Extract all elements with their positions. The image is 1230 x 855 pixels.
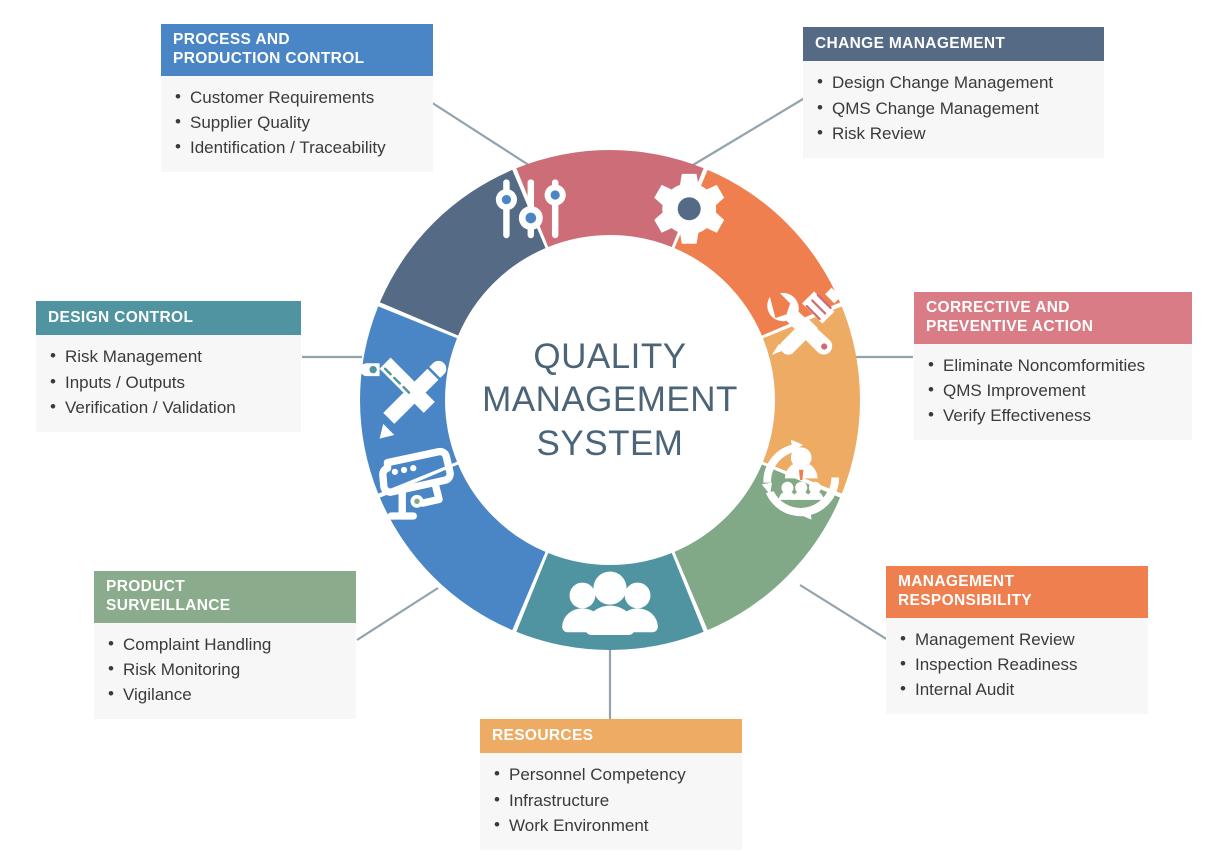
- qms-wheel: [355, 145, 865, 655]
- card-title-line-2: PRODUCTION CONTROL: [173, 49, 421, 68]
- card-header-product-surveillance: PRODUCT SURVEILLANCE: [94, 571, 356, 623]
- card-title-line-1: DESIGN CONTROL: [48, 308, 289, 327]
- card-header-change-management: CHANGE MANAGEMENT: [803, 27, 1104, 61]
- card-list-management-responsibility: Management Review Inspection Readiness I…: [886, 618, 1148, 714]
- list-item: Risk Review: [817, 121, 1092, 146]
- list-item: Management Review: [900, 627, 1136, 652]
- list-item: QMS Change Management: [817, 96, 1092, 121]
- list-item: QMS Improvement: [928, 378, 1180, 403]
- card-list-corrective-and-preventive-action: Eliminate Noncomformities QMS Improvemen…: [914, 344, 1192, 440]
- card-design-control: DESIGN CONTROL Risk Management Inputs / …: [36, 301, 301, 432]
- card-corrective-and-preventive-action: CORRECTIVE AND PREVENTIVE ACTION Elimina…: [914, 292, 1192, 440]
- list-item: Customer Requirements: [175, 85, 421, 110]
- list-item: Supplier Quality: [175, 110, 421, 135]
- card-header-process-and-production-control: PROCESS AND PRODUCTION CONTROL: [161, 24, 433, 76]
- list-item: Complaint Handling: [108, 632, 344, 657]
- qms-diagram: QUALITY MANAGEMENT SYSTEM PROCESS AND PR…: [0, 0, 1230, 855]
- card-title-line-1: MANAGEMENT: [898, 572, 1136, 591]
- list-item: Inputs / Outputs: [50, 370, 289, 395]
- card-title-line-2: PREVENTIVE ACTION: [926, 317, 1180, 336]
- card-list-change-management: Design Change Management QMS Change Mana…: [803, 61, 1104, 157]
- list-item: Risk Management: [50, 344, 289, 369]
- sliders-icon: [496, 179, 566, 238]
- list-item: Infrastructure: [494, 788, 730, 813]
- card-title-line-1: PRODUCT: [106, 577, 344, 596]
- list-item: Internal Audit: [900, 677, 1136, 702]
- card-change-management: CHANGE MANAGEMENT Design Change Manageme…: [803, 27, 1104, 158]
- card-header-resources: RESOURCES: [480, 719, 742, 753]
- segment-change-management: [380, 170, 546, 336]
- card-title-line-1: CHANGE MANAGEMENT: [815, 34, 1092, 53]
- list-item: Verify Effectiveness: [928, 403, 1180, 428]
- card-title-line-2: RESPONSIBILITY: [898, 591, 1136, 610]
- card-header-design-control: DESIGN CONTROL: [36, 301, 301, 335]
- card-resources: RESOURCES Personnel Competency Infrastru…: [480, 719, 742, 850]
- list-item: Verification / Validation: [50, 395, 289, 420]
- card-product-surveillance: PRODUCT SURVEILLANCE Complaint Handling …: [94, 571, 356, 719]
- card-title-line-2: SURVEILLANCE: [106, 596, 344, 615]
- list-item: Vigilance: [108, 682, 344, 707]
- wheel-svg: [355, 145, 865, 655]
- list-item: Work Environment: [494, 813, 730, 838]
- list-item: Risk Monitoring: [108, 657, 344, 682]
- list-item: Design Change Management: [817, 70, 1092, 95]
- list-item: Identification / Traceability: [175, 135, 421, 160]
- card-header-corrective-and-preventive-action: CORRECTIVE AND PREVENTIVE ACTION: [914, 292, 1192, 344]
- card-list-design-control: Risk Management Inputs / Outputs Verific…: [36, 335, 301, 431]
- card-management-responsibility: MANAGEMENT RESPONSIBILITY Management Rev…: [886, 566, 1148, 714]
- card-list-product-surveillance: Complaint Handling Risk Monitoring Vigil…: [94, 623, 356, 719]
- card-title-line-1: PROCESS AND: [173, 30, 421, 49]
- card-list-process-and-production-control: Customer Requirements Supplier Quality I…: [161, 76, 433, 172]
- card-list-resources: Personnel Competency Infrastructure Work…: [480, 753, 742, 849]
- list-item: Personnel Competency: [494, 762, 730, 787]
- list-item: Eliminate Noncomformities: [928, 353, 1180, 378]
- list-item: Inspection Readiness: [900, 652, 1136, 677]
- card-title-line-1: RESOURCES: [492, 726, 730, 745]
- card-process-and-production-control: PROCESS AND PRODUCTION CONTROL Customer …: [161, 24, 433, 172]
- card-header-management-responsibility: MANAGEMENT RESPONSIBILITY: [886, 566, 1148, 618]
- card-title-line-1: CORRECTIVE AND: [926, 298, 1180, 317]
